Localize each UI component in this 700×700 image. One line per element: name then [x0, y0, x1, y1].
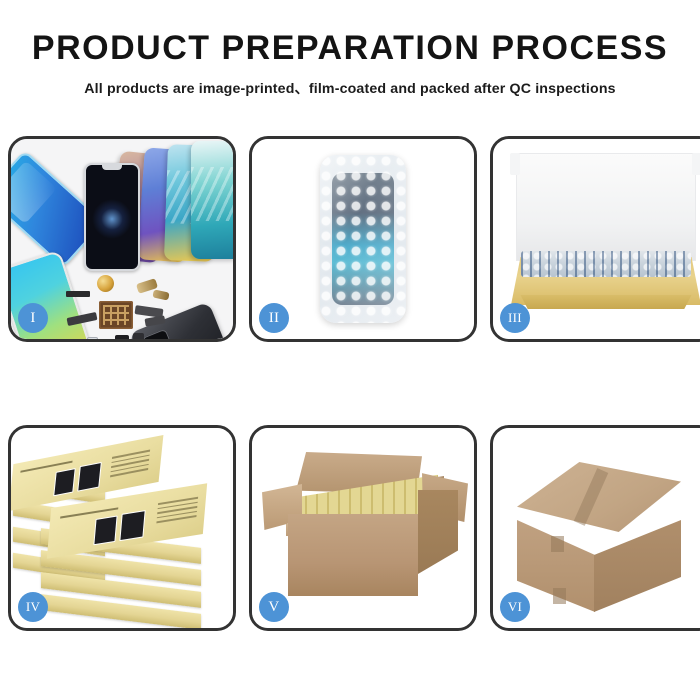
step-badge-6: VI	[500, 592, 530, 622]
step-badge-2: II	[259, 303, 289, 333]
step-panel-1: I	[8, 136, 236, 342]
step-panel-2: II	[249, 136, 477, 342]
circuit-board-part-icon	[99, 301, 133, 329]
step-badge-5: V	[259, 592, 289, 622]
camera-module-2-part-icon	[133, 333, 144, 339]
step-panel-3: III	[490, 136, 700, 342]
step-badge-4: IV	[18, 592, 48, 622]
bubble-wrapped-phone-icon	[320, 155, 406, 323]
kraft-box-front-edge	[515, 295, 697, 309]
box-label-image	[119, 510, 145, 541]
step-badge-3: III	[500, 303, 530, 333]
carton-front-face	[288, 514, 418, 596]
process-steps-grid: I II III	[8, 136, 692, 631]
product-preparation-infographic: PRODUCT PREPARATION PROCESS All products…	[0, 0, 700, 700]
step-panel-6: VI	[490, 425, 700, 631]
box-label-image	[93, 515, 117, 545]
step-panel-4: IV	[8, 425, 236, 631]
phone-notch	[102, 165, 122, 170]
box-label-image	[53, 468, 76, 496]
camera-module-part-icon	[115, 335, 129, 339]
box-label-text-block	[110, 450, 150, 480]
dark-screen-phone-icon	[84, 163, 140, 271]
stacked-boxes-icon	[11, 446, 233, 616]
battery-connector-part-icon	[66, 291, 90, 297]
wrapped-items-in-box	[521, 251, 691, 277]
screen-graphic	[92, 199, 132, 239]
carton-tape-patch	[553, 588, 566, 604]
plastic-sheen	[320, 155, 406, 323]
carton-tape-patch	[551, 536, 564, 552]
box-label-text-block	[156, 497, 198, 526]
page-title: PRODUCT PREPARATION PROCESS	[0, 0, 700, 67]
fanned-phone-teal-icon	[191, 141, 233, 259]
box-label-image	[77, 462, 102, 492]
step-badge-1: I	[18, 303, 48, 333]
header: PRODUCT PREPARATION PROCESS All products…	[0, 0, 700, 98]
sim-tray-part-icon	[87, 337, 98, 339]
open-box-lid-icon	[516, 153, 696, 261]
step-panel-5: V	[249, 425, 477, 631]
copper-coil-part-icon	[97, 275, 114, 292]
page-subtitle: All products are image-printed、film-coat…	[0, 67, 700, 98]
